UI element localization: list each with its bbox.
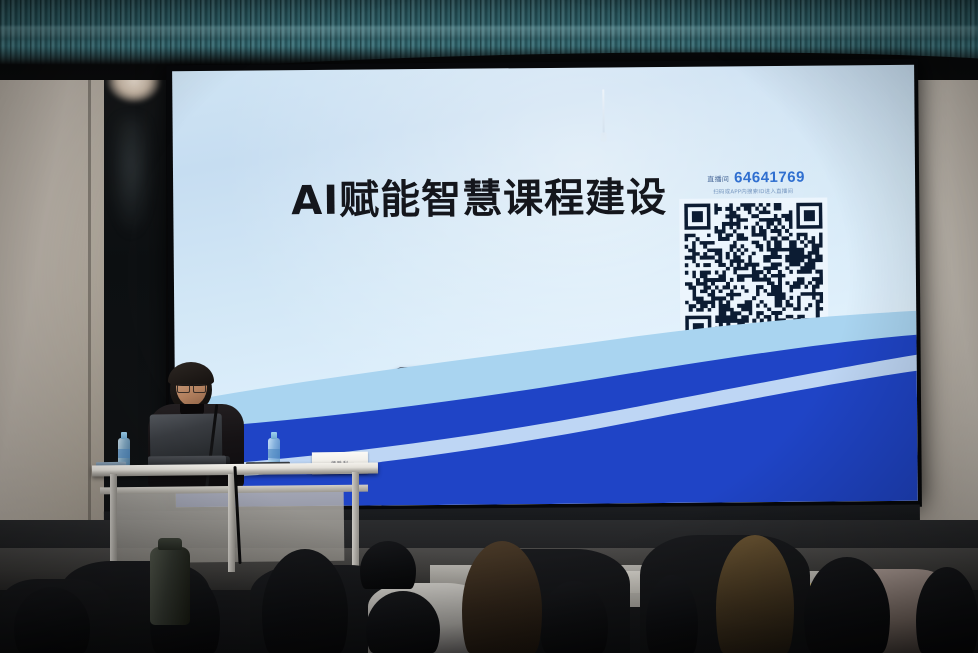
presenter-hair (168, 362, 214, 386)
qr-room-line: 直播间 64641769 (674, 169, 838, 185)
audience-head (360, 541, 416, 589)
audience-silhouettes (0, 473, 978, 653)
qr-room-number: 64641769 (734, 170, 805, 186)
hanging-wire (602, 89, 604, 135)
audience-head (916, 567, 978, 653)
lecture-hall-photo: AI赋能智慧课程建设 直播间 64641769 扫码或APP内搜索ID进入直播间… (0, 0, 978, 653)
qr-room-label: 直播间 (707, 176, 729, 185)
glasses-icon (177, 384, 206, 391)
slide-title: AI赋能智慧课程建设 (291, 165, 691, 226)
projection-screen: AI赋能智慧课程建设 直播间 64641769 扫码或APP内搜索ID进入直播间… (172, 65, 918, 507)
qr-caption-top: 扫码或APP内搜索ID进入直播间 (668, 186, 838, 195)
thermos-flask (150, 547, 190, 625)
curtain-highlight-band (0, 26, 978, 40)
